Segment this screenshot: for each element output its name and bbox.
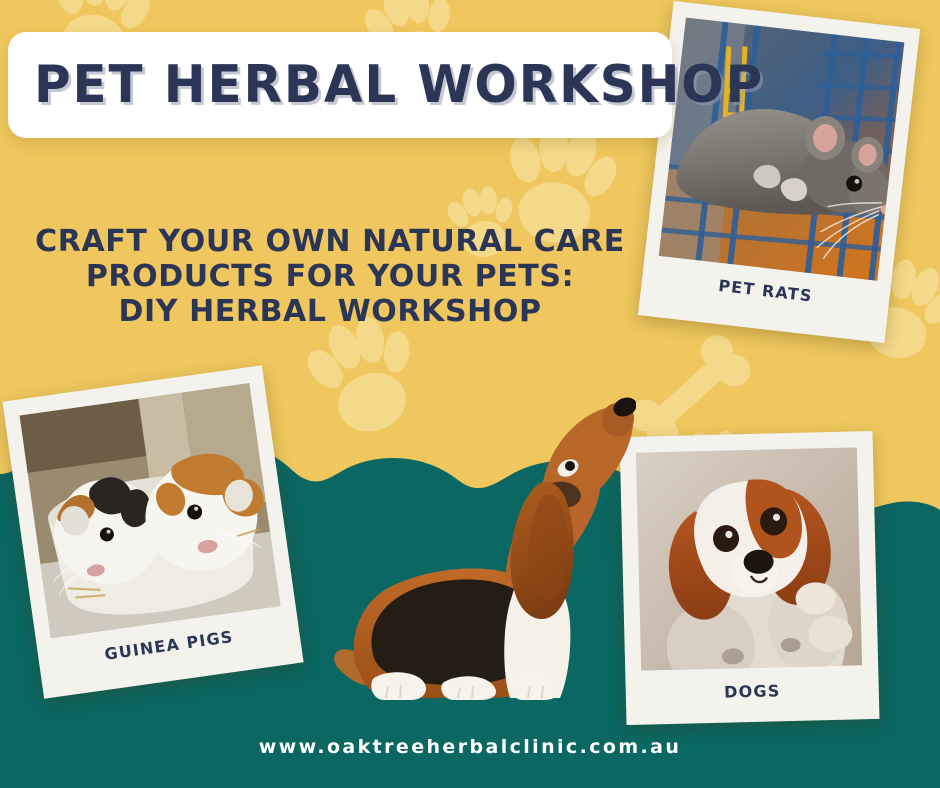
subtitle-line-3: DIY HERBAL WORKSHOP	[0, 295, 660, 330]
polaroid-pet-rats: PET RATS	[638, 1, 920, 343]
subtitle-block: CRAFT YOUR OWN NATURAL CARE PRODUCTS FOR…	[0, 225, 660, 329]
website-url[interactable]: www.oaktreeherbalclinic.com.au	[0, 736, 940, 758]
subtitle-line-2: PRODUCTS FOR YOUR PETS:	[0, 260, 660, 295]
photo-guinea-pigs	[19, 383, 280, 638]
polaroid-caption-dogs: DOGS	[626, 679, 879, 704]
polaroid-guinea-pigs: GUINEA PIGS	[2, 365, 303, 699]
page-title: PET HERBAL WORKSHOP	[34, 59, 764, 111]
basset-hound-illustration	[330, 358, 636, 710]
subtitle-line-1: CRAFT YOUR OWN NATURAL CARE	[0, 225, 660, 260]
photo-dogs	[636, 447, 862, 670]
polaroid-dogs: DOGS	[620, 431, 880, 725]
title-card: PET HERBAL WORKSHOP	[8, 32, 672, 138]
poster-canvas: PET HERBAL WORKSHOP CRAFT YOUR OWN NATUR…	[0, 0, 940, 788]
